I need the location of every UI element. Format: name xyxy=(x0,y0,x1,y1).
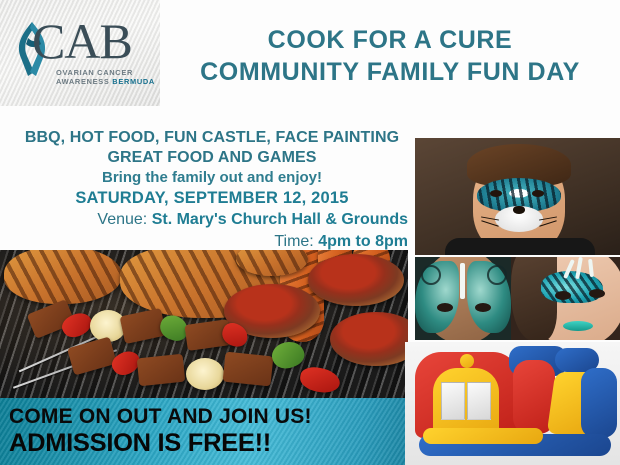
logo-subtitle-bermuda: BERMUDA xyxy=(112,77,155,86)
title-line-1: COOK FOR A CURE xyxy=(165,24,615,56)
ocab-logo-panel: CAB OVARIAN CANCER AWARENESS BERMUDA xyxy=(0,0,160,106)
kebab-meat xyxy=(137,354,186,387)
boy-shirt xyxy=(445,238,595,255)
activities-line-1: BBQ, HOT FOOD, FUN CASTLE, FACE PAINTING xyxy=(16,128,408,148)
event-date: SATURDAY, SEPTEMBER 12, 2015 xyxy=(16,188,408,209)
logo-subtitle: OVARIAN CANCER AWARENESS BERMUDA xyxy=(56,68,156,87)
face-paint-pair-photos xyxy=(415,257,620,340)
bottom-banner: COME ON OUT AND JOIN US! ADMISSION IS FR… xyxy=(0,398,405,465)
castle-window xyxy=(467,382,491,420)
castle-top-knob xyxy=(460,354,474,368)
peacock-eye-paint xyxy=(541,271,603,303)
eye-left xyxy=(555,291,571,300)
teal-lipstick xyxy=(563,321,593,331)
eye-right xyxy=(589,289,605,298)
venue-label: Venue: xyxy=(97,211,147,228)
time-value: 4pm to 8pm xyxy=(318,233,408,250)
tiger-nose-paint xyxy=(513,206,525,214)
castle-window xyxy=(441,382,465,420)
eye-right xyxy=(475,303,491,312)
boy-eye-right xyxy=(532,190,544,197)
eye-left xyxy=(437,303,453,312)
banner-line-2: ADMISSION IS FREE!! xyxy=(9,429,271,458)
castle-slide-side-blue xyxy=(581,368,617,438)
time-label: Time: xyxy=(274,233,313,250)
logo-subtitle-line1: OVARIAN CANCER xyxy=(56,68,133,77)
flyer-poster: CAB OVARIAN CANCER AWARENESS BERMUDA COO… xyxy=(0,0,620,465)
title-line-2: COMMUNITY FAMILY FUN DAY xyxy=(165,56,615,88)
boy-tiger-face-paint-photo xyxy=(415,138,620,255)
butterfly-face-paint-photo xyxy=(415,257,511,340)
peacock-face-paint-photo xyxy=(511,257,620,340)
onion-slice xyxy=(186,358,224,390)
poster-title: COOK FOR A CURE COMMUNITY FAMILY FUN DAY xyxy=(165,24,615,88)
logo-wordmark: CAB xyxy=(32,16,132,66)
venue-value: St. Mary's Church Hall & Grounds xyxy=(152,211,408,228)
bbq-grill-photo xyxy=(0,250,408,398)
grilled-chicken xyxy=(4,250,122,304)
bounce-castle-photo xyxy=(405,342,620,465)
kebab-meat xyxy=(223,352,274,387)
bbq-patty xyxy=(308,254,404,306)
castle-step-yellow xyxy=(423,428,543,444)
invitation-line: Bring the family out and enjoy! xyxy=(16,168,408,188)
boy-eye-left xyxy=(490,190,502,197)
banner-line-1: COME ON OUT AND JOIN US! xyxy=(9,405,312,429)
activities-line-2: GREAT FOOD AND GAMES xyxy=(16,148,408,168)
swirl-decoration xyxy=(487,265,507,285)
logo-inner: CAB OVARIAN CANCER AWARENESS BERMUDA xyxy=(8,16,154,94)
center-stripe xyxy=(460,263,465,299)
logo-subtitle-line2: AWARENESS xyxy=(56,77,112,86)
event-details: BBQ, HOT FOOD, FUN CASTLE, FACE PAINTING… xyxy=(16,128,408,253)
swirl-decoration xyxy=(421,265,441,285)
event-venue: Venue: St. Mary's Church Hall & Grounds xyxy=(16,209,408,231)
